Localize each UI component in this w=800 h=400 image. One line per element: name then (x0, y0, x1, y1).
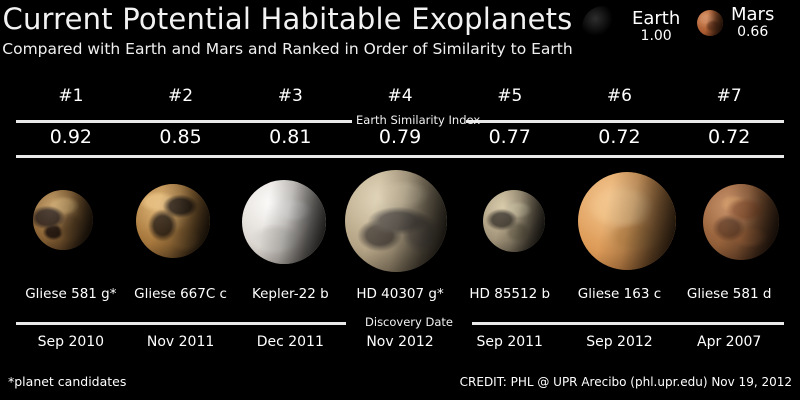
planet-name-row: Gliese 581 g* Gliese 667C c Kepler-22 b … (16, 286, 784, 302)
esi-cell: 0.79 (345, 126, 455, 148)
planet-name-cell: Gliese 163 c (565, 286, 675, 302)
earth-globe-icon (582, 6, 624, 48)
esi-cell: 0.72 (565, 126, 675, 148)
esi-cell: 0.72 (674, 126, 784, 148)
planet-name-cell: Gliese 581 d (674, 286, 784, 302)
planet-slot (8, 160, 118, 278)
reference-earth-name: Earth (632, 10, 680, 29)
discovery-date-cell: Nov 2011 (126, 334, 236, 350)
discovery-date-cell: Nov 2012 (345, 334, 455, 350)
planet-gliese-581-d (703, 184, 779, 260)
reference-earth: Earth 1.00 (582, 6, 680, 48)
esi-cell: 0.77 (455, 126, 565, 148)
discovery-date-cell: Sep 2012 (565, 334, 675, 350)
reference-earth-value: 1.00 (632, 29, 680, 44)
planet-gliese-667c-c (136, 184, 210, 258)
planet-gliese-581-g (33, 190, 93, 250)
esi-divider-right (466, 120, 784, 123)
esi-divider-left (16, 120, 352, 123)
rank-cell: #1 (16, 86, 126, 106)
planet-slot (340, 160, 452, 278)
planet-slot (460, 160, 568, 278)
discovery-date-row: Sep 2010 Nov 2011 Dec 2011 Nov 2012 Sep … (16, 334, 784, 350)
credit-line: CREDIT: PHL @ UPR Arecibo (phl.upr.edu) … (460, 375, 792, 389)
discovery-section-label: Discovery Date (350, 315, 468, 329)
planet-slot (228, 160, 340, 278)
reference-mars-value: 0.66 (731, 25, 774, 40)
esi-divider-bottom (16, 155, 784, 158)
planet-name-cell: Kepler-22 b (235, 286, 345, 302)
planet-slot (118, 160, 228, 278)
discovery-divider-right (472, 322, 784, 325)
planet-name-cell: HD 40307 g* (345, 286, 455, 302)
esi-section-label: Earth Similarity Index (356, 113, 462, 127)
discovery-date-cell: Dec 2011 (235, 334, 345, 350)
planet-gliese-163-c (578, 172, 676, 270)
page-subtitle: Compared with Earth and Mars and Ranked … (0, 40, 575, 58)
rank-cell: #7 (674, 86, 784, 106)
rank-cell: #3 (235, 86, 345, 106)
esi-row: 0.92 0.85 0.81 0.79 0.77 0.72 0.72 (16, 126, 784, 148)
infographic-canvas: Current Potential Habitable Exoplanets C… (0, 0, 800, 400)
planet-hd-40307-g (345, 170, 447, 272)
planet-slot (686, 160, 796, 278)
footnote: *planet candidates (8, 374, 126, 389)
planet-kepler-22-b (242, 180, 326, 264)
reference-earth-label: Earth 1.00 (632, 10, 680, 44)
planet-name-cell: Gliese 667C c (126, 286, 236, 302)
planet-strip (0, 160, 800, 278)
reference-mars: Mars 0.66 (697, 6, 774, 40)
rank-cell: #5 (455, 86, 565, 106)
discovery-date-cell: Sep 2010 (16, 334, 126, 350)
planet-hd-85512-b (483, 190, 545, 252)
esi-cell: 0.81 (235, 126, 345, 148)
planet-name-cell: Gliese 581 g* (16, 286, 126, 302)
discovery-divider-left (16, 322, 346, 325)
esi-cell: 0.92 (16, 126, 126, 148)
rank-cell: #2 (126, 86, 236, 106)
reference-mars-name: Mars (731, 6, 774, 25)
mars-globe-icon (697, 10, 723, 36)
esi-cell: 0.85 (126, 126, 236, 148)
planet-name-cell: HD 85512 b (455, 286, 565, 302)
page-title: Current Potential Habitable Exoplanets (0, 2, 575, 36)
rank-cell: #4 (345, 86, 455, 106)
discovery-date-cell: Apr 2007 (674, 334, 784, 350)
rank-cell: #6 (565, 86, 675, 106)
reference-mars-label: Mars 0.66 (731, 6, 774, 40)
planet-slot (570, 160, 684, 278)
discovery-date-cell: Sep 2011 (455, 334, 565, 350)
rank-row: #1 #2 #3 #4 #5 #6 #7 (16, 86, 784, 106)
